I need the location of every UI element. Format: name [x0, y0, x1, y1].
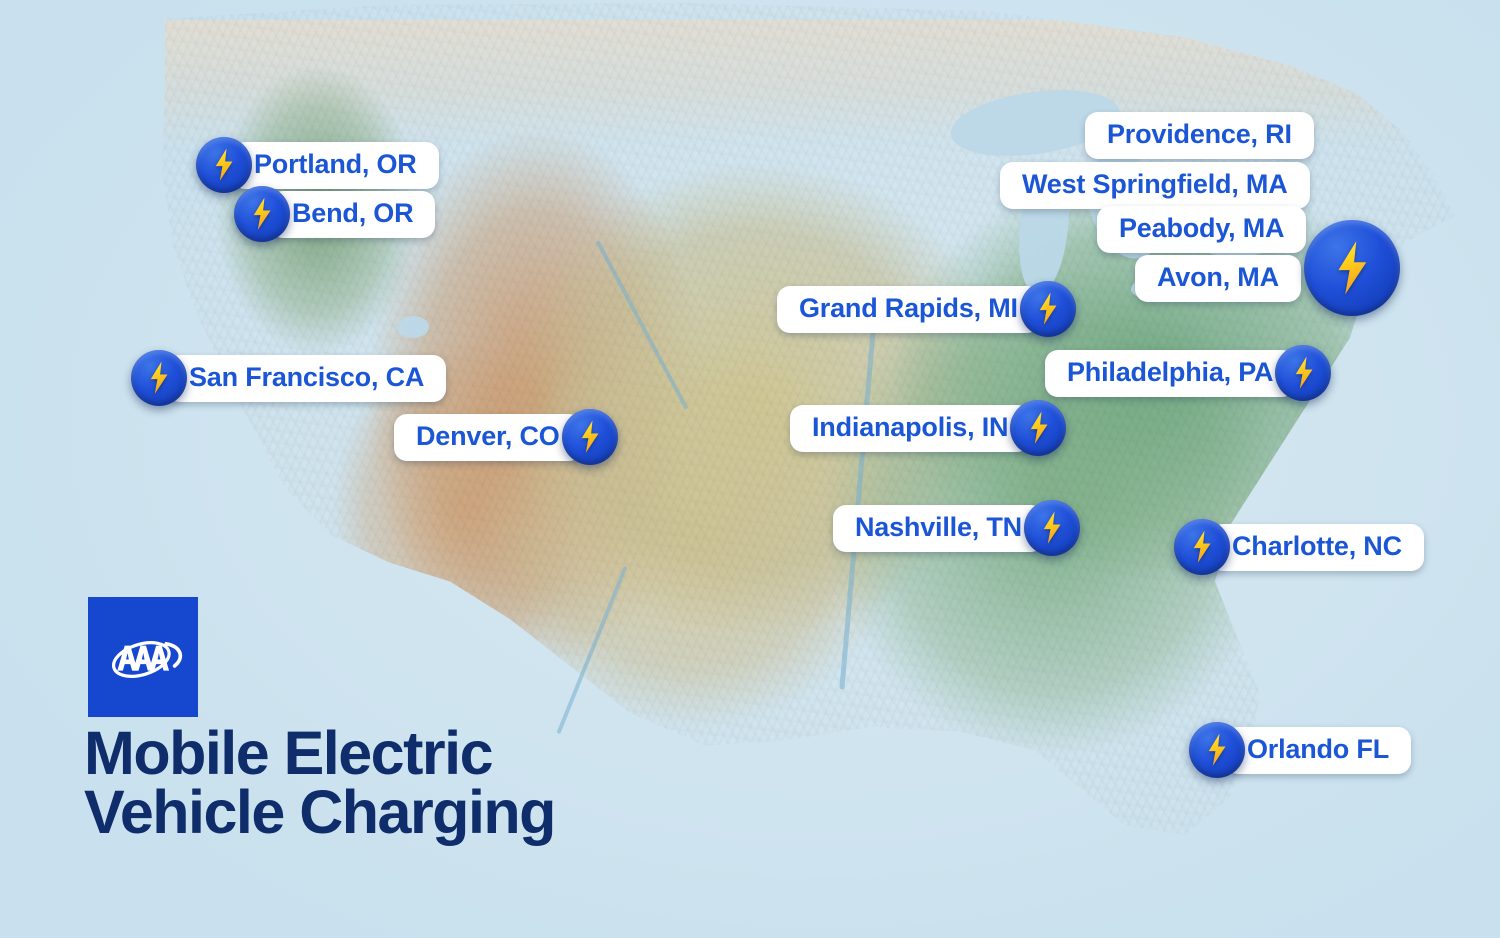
- marker-avon-ma[interactable]: Avon, MA: [1135, 255, 1301, 302]
- title-line-2: Vehicle Charging: [84, 783, 724, 842]
- marker-peabody-ma[interactable]: Peabody, MA: [1097, 206, 1306, 253]
- location-pill[interactable]: Orlando FL: [1225, 727, 1411, 774]
- charging-pin[interactable]: [1010, 400, 1066, 456]
- location-pill[interactable]: Grand Rapids, MI: [777, 286, 1040, 333]
- location-label: Grand Rapids, MI: [799, 295, 1018, 322]
- location-label: West Springfield, MA: [1022, 171, 1288, 198]
- lightning-bolt-icon: [573, 420, 607, 454]
- charging-pin[interactable]: [196, 137, 252, 193]
- marker-nashville-tn[interactable]: Nashville, TN: [833, 500, 1080, 556]
- massachusetts-cluster-pin[interactable]: [1304, 220, 1400, 316]
- location-label: Nashville, TN: [855, 514, 1022, 541]
- charging-pin[interactable]: [234, 186, 290, 242]
- missouri-river: [596, 240, 689, 410]
- location-label: San Francisco, CA: [189, 364, 424, 391]
- location-label: Philadelphia, PA: [1067, 359, 1273, 386]
- location-pill[interactable]: Portland, OR: [232, 142, 439, 189]
- charging-pin[interactable]: [1024, 500, 1080, 556]
- marker-west-springfield-ma[interactable]: West Springfield, MA: [1000, 162, 1310, 209]
- location-pill[interactable]: Avon, MA: [1135, 255, 1301, 302]
- charging-pin[interactable]: [131, 350, 187, 406]
- lightning-bolt-icon: [1324, 240, 1380, 296]
- lightning-bolt-icon: [1031, 292, 1065, 326]
- location-label: Denver, CO: [416, 423, 560, 450]
- location-label: Providence, RI: [1107, 121, 1292, 148]
- location-label: Bend, OR: [292, 200, 413, 227]
- aaa-logo: [88, 597, 198, 717]
- location-pill[interactable]: Providence, RI: [1085, 112, 1314, 159]
- location-label: Charlotte, NC: [1232, 533, 1402, 560]
- marker-orlando-fl[interactable]: Orlando FL: [1189, 722, 1411, 778]
- location-label: Indianapolis, IN: [812, 414, 1008, 441]
- marker-indianapolis-in[interactable]: Indianapolis, IN: [790, 400, 1066, 456]
- charging-pin[interactable]: [562, 409, 618, 465]
- lightning-bolt-icon: [1200, 733, 1234, 767]
- location-pill[interactable]: Indianapolis, IN: [790, 405, 1030, 452]
- marker-portland-or[interactable]: Portland, OR: [196, 137, 439, 193]
- location-label: Peabody, MA: [1119, 215, 1284, 242]
- location-label: Portland, OR: [254, 151, 417, 178]
- charging-pin[interactable]: [1174, 519, 1230, 575]
- rio-grande-river: [556, 566, 627, 734]
- aaa-logo-icon: [97, 620, 189, 694]
- page-title: Mobile Electric Vehicle Charging: [84, 724, 724, 841]
- lightning-bolt-icon: [1185, 530, 1219, 564]
- marker-bend-or[interactable]: Bend, OR: [234, 186, 435, 242]
- location-label: Orlando FL: [1247, 736, 1389, 763]
- location-pill[interactable]: San Francisco, CA: [167, 355, 446, 402]
- location-label: Avon, MA: [1157, 264, 1279, 291]
- location-pill[interactable]: Bend, OR: [270, 191, 435, 238]
- marker-denver-co[interactable]: Denver, CO: [394, 409, 618, 465]
- location-pill[interactable]: Denver, CO: [394, 414, 582, 461]
- ev-charging-map-graphic: Portland, OR Bend, OR Sa: [0, 0, 1500, 938]
- marker-providence-ri[interactable]: Providence, RI: [1085, 112, 1314, 159]
- location-pill[interactable]: Charlotte, NC: [1210, 524, 1424, 571]
- location-pill[interactable]: Peabody, MA: [1097, 206, 1306, 253]
- marker-philadelphia-pa[interactable]: Philadelphia, PA: [1045, 345, 1331, 401]
- lightning-bolt-icon: [142, 361, 176, 395]
- title-line-1: Mobile Electric: [84, 719, 492, 787]
- marker-san-francisco-ca[interactable]: San Francisco, CA: [131, 350, 446, 406]
- location-pill[interactable]: Nashville, TN: [833, 505, 1044, 552]
- lightning-bolt-icon: [245, 197, 279, 231]
- great-salt-lake: [397, 316, 429, 338]
- charging-pin[interactable]: [1020, 281, 1076, 337]
- marker-grand-rapids-mi[interactable]: Grand Rapids, MI: [777, 281, 1076, 337]
- marker-charlotte-nc[interactable]: Charlotte, NC: [1174, 519, 1424, 575]
- lightning-bolt-icon: [1022, 411, 1056, 445]
- location-pill[interactable]: Philadelphia, PA: [1045, 350, 1295, 397]
- lightning-bolt-icon: [1035, 511, 1069, 545]
- lightning-bolt-icon: [207, 148, 241, 182]
- charging-pin[interactable]: [1275, 345, 1331, 401]
- charging-pin[interactable]: [1189, 722, 1245, 778]
- lightning-bolt-icon: [1287, 356, 1321, 390]
- location-pill[interactable]: West Springfield, MA: [1000, 162, 1310, 209]
